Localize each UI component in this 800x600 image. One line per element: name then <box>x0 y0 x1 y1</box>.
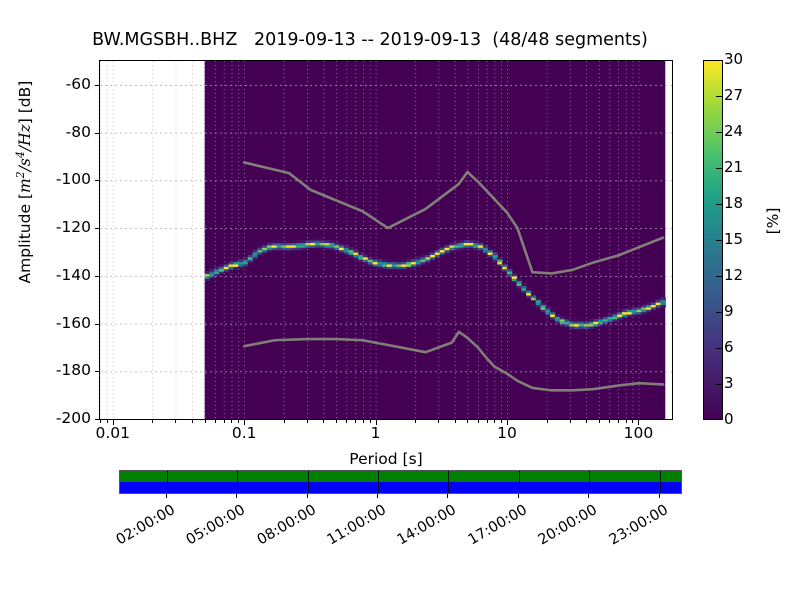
coverage-divider <box>448 471 449 493</box>
colorbar-tick-label: 3 <box>724 374 764 392</box>
coverage-segment-blue <box>120 482 681 493</box>
y-tick-mark <box>95 276 100 277</box>
coverage-divider <box>167 471 168 493</box>
coverage-tick-mark <box>447 494 448 498</box>
y-tick-mark <box>95 180 100 181</box>
x-minor-tick-mark <box>609 420 610 423</box>
coverage-tick-mark <box>377 494 378 498</box>
x-minor-tick-mark <box>231 420 232 423</box>
coverage-time-label: 02:00:00 <box>113 502 178 549</box>
x-minor-tick-mark <box>100 420 101 423</box>
colorbar-tick-label: 9 <box>724 302 764 320</box>
x-minor-tick-mark <box>438 420 439 423</box>
x-minor-tick-mark <box>346 420 347 423</box>
coverage-time-label: 23:00:00 <box>605 502 670 549</box>
x-tick-mark <box>244 420 245 425</box>
coverage-segment-green <box>120 471 681 482</box>
coverage-time-label: 05:00:00 <box>183 502 248 549</box>
x-minor-tick-mark <box>455 420 456 423</box>
y-tick-label: -140 <box>51 266 91 284</box>
coverage-divider <box>660 471 661 493</box>
colorbar-tick-mark <box>716 312 723 313</box>
coverage-tick-mark <box>307 494 308 498</box>
ppsd-plot-area[interactable] <box>99 60 673 420</box>
colorbar-tick-label: 21 <box>724 158 764 176</box>
x-minor-tick-mark <box>336 420 337 423</box>
x-minor-tick-mark <box>192 420 193 423</box>
ppsd-canvas <box>100 61 672 419</box>
x-minor-tick-mark <box>238 420 239 423</box>
y-tick-label: -60 <box>51 75 91 93</box>
colorbar-tick-label: 0 <box>724 410 764 428</box>
coverage-time-label: 08:00:00 <box>253 502 318 549</box>
colorbar-tick-label: 15 <box>724 230 764 248</box>
x-tick-mark <box>113 420 114 425</box>
x-tick-label: 10 <box>467 424 547 442</box>
x-minor-tick-mark <box>107 420 108 423</box>
colorbar-tick-mark <box>716 348 723 349</box>
coverage-time-label: 20:00:00 <box>535 502 600 549</box>
coverage-tick-mark <box>518 494 519 498</box>
coverage-time-label: 14:00:00 <box>394 502 459 549</box>
y-tick-mark <box>95 228 100 229</box>
plot-title: BW.MGSBH..BHZ 2019-09-13 -- 2019-09-13 (… <box>0 30 740 50</box>
y-tick-mark <box>95 85 100 86</box>
coverage-divider <box>519 471 520 493</box>
colorbar-tick-mark <box>716 204 723 205</box>
x-minor-tick-mark <box>632 420 633 423</box>
time-coverage-bar[interactable] <box>119 470 682 494</box>
colorbar-tick-mark <box>716 384 723 385</box>
y-tick-label: -120 <box>51 218 91 236</box>
coverage-time-label: 17:00:00 <box>465 502 530 549</box>
x-minor-tick-mark <box>205 420 206 423</box>
coverage-tick-mark <box>659 494 660 498</box>
x-tick-label: 0.01 <box>73 424 153 442</box>
y-tick-label: -160 <box>51 314 91 332</box>
colorbar-tick-label: 30 <box>724 50 764 68</box>
coverage-divider <box>378 471 379 493</box>
x-minor-tick-mark <box>487 420 488 423</box>
y-tick-label: -180 <box>51 361 91 379</box>
x-minor-tick-mark <box>355 420 356 423</box>
x-minor-tick-mark <box>467 420 468 423</box>
x-minor-tick-mark <box>284 420 285 423</box>
ppsd-figure: BW.MGSBH..BHZ 2019-09-13 -- 2019-09-13 (… <box>0 0 800 600</box>
x-minor-tick-mark <box>570 420 571 423</box>
x-minor-tick-mark <box>626 420 627 423</box>
x-minor-tick-mark <box>307 420 308 423</box>
x-minor-tick-mark <box>599 420 600 423</box>
coverage-tick-mark <box>236 494 237 498</box>
coverage-time-label: 11:00:00 <box>324 502 389 549</box>
y-axis-label: Amplitude [m2/s4/Hz] [dB] <box>14 2 34 362</box>
x-minor-tick-mark <box>494 420 495 423</box>
colorbar-tick-label: 24 <box>724 122 764 140</box>
colorbar-tick-label: 6 <box>724 338 764 356</box>
coverage-divider <box>237 471 238 493</box>
y-tick-label: -100 <box>51 170 91 188</box>
x-minor-tick-mark <box>363 420 364 423</box>
colorbar-tick-mark <box>716 240 723 241</box>
y-tick-label: -80 <box>51 123 91 141</box>
x-minor-tick-mark <box>618 420 619 423</box>
x-tick-mark <box>507 420 508 425</box>
colorbar-tick-label: 18 <box>724 194 764 212</box>
x-minor-tick-mark <box>415 420 416 423</box>
colorbar-tick-label: 12 <box>724 266 764 284</box>
x-tick-mark <box>376 420 377 425</box>
coverage-divider <box>589 471 590 493</box>
y-tick-mark <box>95 371 100 372</box>
colorbar-tick-mark <box>716 168 723 169</box>
x-minor-tick-mark <box>175 420 176 423</box>
x-tick-label: 1 <box>336 424 416 442</box>
y-axis-label-text: Amplitude [ <box>16 193 34 283</box>
x-minor-tick-mark <box>152 420 153 423</box>
colorbar-tick-mark <box>716 276 723 277</box>
coverage-tick-mark <box>588 494 589 498</box>
x-minor-tick-mark <box>215 420 216 423</box>
y-tick-mark <box>95 324 100 325</box>
x-minor-tick-mark <box>547 420 548 423</box>
x-tick-mark <box>638 420 639 425</box>
x-tick-label: 0.1 <box>204 424 284 442</box>
x-minor-tick-mark <box>586 420 587 423</box>
colorbar-label: [%] <box>764 161 782 281</box>
x-minor-tick-mark <box>501 420 502 423</box>
x-minor-tick-mark <box>224 420 225 423</box>
x-minor-tick-mark <box>370 420 371 423</box>
x-minor-tick-mark <box>478 420 479 423</box>
y-tick-mark <box>95 133 100 134</box>
colorbar-tick-label: 27 <box>724 86 764 104</box>
x-minor-tick-mark <box>323 420 324 423</box>
coverage-tick-mark <box>166 494 167 498</box>
x-axis-label: Period [s] <box>99 450 673 468</box>
x-tick-label: 100 <box>598 424 678 442</box>
colorbar-tick-mark <box>716 132 723 133</box>
colorbar-tick-mark <box>716 96 723 97</box>
coverage-divider <box>308 471 309 493</box>
